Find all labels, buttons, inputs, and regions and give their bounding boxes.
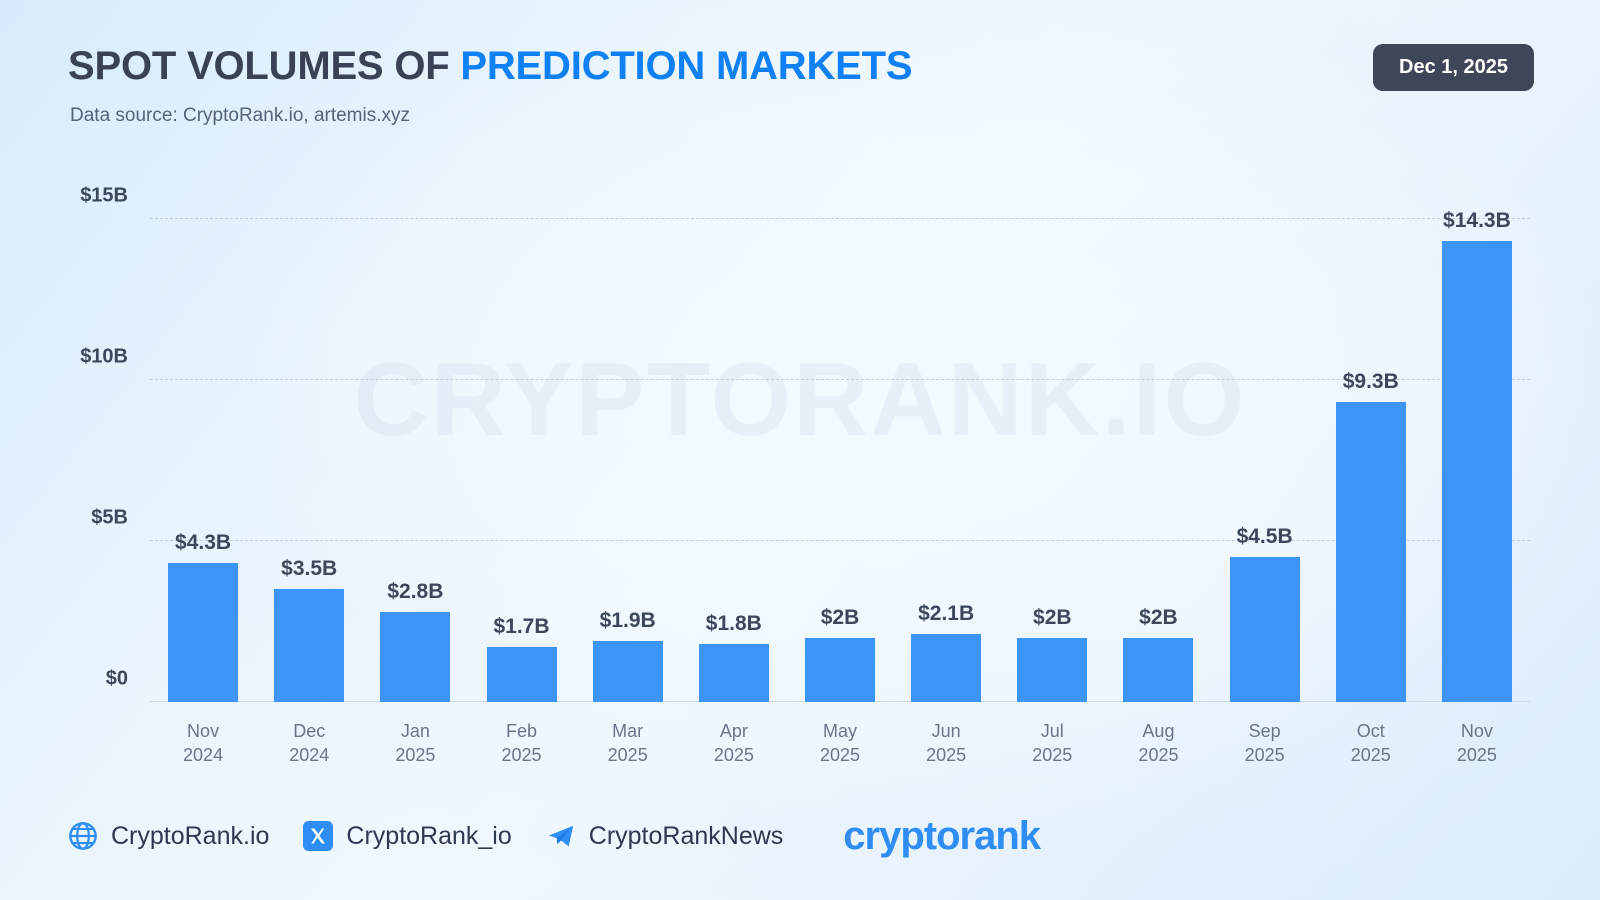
x-axis-tick-month: Nov bbox=[1461, 721, 1493, 741]
y-axis-tick-label: $0 bbox=[8, 668, 128, 691]
bar[interactable] bbox=[1123, 638, 1193, 702]
y-axis-tick-label: $15B bbox=[8, 184, 128, 207]
bar-value-label: $2B bbox=[1139, 606, 1178, 630]
x-axis-tick-year: 2025 bbox=[395, 744, 435, 768]
x-axis-tick-label: Dec2024 bbox=[289, 720, 329, 768]
bar-value-label: $4.5B bbox=[1237, 525, 1293, 549]
globe-icon bbox=[68, 821, 98, 851]
bar[interactable] bbox=[1017, 638, 1087, 702]
bar[interactable] bbox=[699, 644, 769, 702]
x-axis-tick-month: Apr bbox=[720, 721, 748, 741]
bar-slot: $2B bbox=[1105, 180, 1211, 702]
bar-value-label: $9.3B bbox=[1343, 370, 1399, 394]
x-axis-tick-month: Dec bbox=[293, 721, 325, 741]
x-axis-tick-year: 2025 bbox=[1245, 744, 1285, 768]
date-badge: Dec 1, 2025 bbox=[1373, 44, 1534, 91]
x-axis-tick-month: Oct bbox=[1357, 721, 1385, 741]
x-axis-tick-year: 2025 bbox=[1351, 744, 1391, 768]
x-axis-tick-year: 2025 bbox=[714, 744, 754, 768]
bar-value-label: $2.8B bbox=[387, 580, 443, 604]
social-link-telegram-label: CryptoRankNews bbox=[589, 822, 784, 851]
x-axis-tick-label: Aug2025 bbox=[1138, 720, 1178, 768]
social-link-website-label: CryptoRank.io bbox=[111, 822, 269, 851]
x-axis-tick-month: May bbox=[823, 721, 857, 741]
x-axis-tick-year: 2024 bbox=[289, 744, 329, 768]
social-link-website[interactable]: CryptoRank.io bbox=[68, 821, 269, 851]
x-axis-tick-year: 2025 bbox=[608, 744, 648, 768]
bar-value-label: $4.3B bbox=[175, 531, 231, 555]
bar-slot: $2.8B bbox=[362, 180, 468, 702]
x-axis-tick-month: Aug bbox=[1142, 721, 1174, 741]
bar[interactable] bbox=[380, 612, 450, 702]
bar-slot: $2B bbox=[787, 180, 893, 702]
bar[interactable] bbox=[593, 641, 663, 702]
x-axis-tick-label: May2025 bbox=[820, 720, 860, 768]
x-axis-tick-label: Oct2025 bbox=[1351, 720, 1391, 768]
cryptorank-logo: cryptorank bbox=[843, 816, 1040, 856]
x-axis-tick-label: Feb2025 bbox=[502, 720, 542, 768]
bar[interactable] bbox=[487, 647, 557, 702]
x-axis-tick-month: Jun bbox=[932, 721, 961, 741]
x-axis-tick-year: 2024 bbox=[183, 744, 223, 768]
bar[interactable] bbox=[1336, 402, 1406, 702]
bar-slot: $9.3B bbox=[1318, 180, 1424, 702]
x-axis-tick-label: Mar2025 bbox=[608, 720, 648, 768]
bar-slot: $14.3B bbox=[1424, 180, 1530, 702]
bar-value-label: $2B bbox=[1033, 606, 1072, 630]
x-axis-tick-month: Jan bbox=[401, 721, 430, 741]
bar-slot: $4.5B bbox=[1212, 180, 1318, 702]
x-axis-tick-label: Nov2024 bbox=[183, 720, 223, 768]
x-twitter-icon bbox=[303, 821, 333, 851]
x-axis-tick-year: 2025 bbox=[820, 744, 860, 768]
bar-slot: $2B bbox=[999, 180, 1105, 702]
bar[interactable] bbox=[1442, 241, 1512, 702]
x-axis-tick-month: Feb bbox=[506, 721, 537, 741]
bar-value-label: $2.1B bbox=[918, 602, 974, 626]
bar-slot: $1.7B bbox=[468, 180, 574, 702]
page-title-plain: SPOT VOLUMES OF bbox=[68, 44, 460, 88]
x-axis-tick-year: 2025 bbox=[1457, 744, 1497, 768]
bar[interactable] bbox=[805, 638, 875, 702]
bar-value-label: $3.5B bbox=[281, 557, 337, 581]
footer: CryptoRank.io CryptoRank_io CryptoRankNe… bbox=[68, 816, 1040, 856]
bar[interactable] bbox=[168, 563, 238, 702]
x-axis-tick-month: Sep bbox=[1249, 721, 1281, 741]
page-title-highlight: PREDICTION MARKETS bbox=[460, 44, 912, 88]
x-axis-tick-month: Nov bbox=[187, 721, 219, 741]
bar-slot: $1.8B bbox=[681, 180, 787, 702]
x-axis-tick-label: Jul2025 bbox=[1032, 720, 1072, 768]
x-axis-tick-year: 2025 bbox=[1032, 744, 1072, 768]
infographic-canvas: SPOT VOLUMES OF PREDICTION MARKETS Data … bbox=[0, 0, 1600, 900]
bar-slot: $2.1B bbox=[893, 180, 999, 702]
x-axis-tick-label: Jun2025 bbox=[926, 720, 966, 768]
x-axis-tick-year: 2025 bbox=[1138, 744, 1178, 768]
x-axis-tick-month: Jul bbox=[1041, 721, 1064, 741]
bar-slot: $1.9B bbox=[575, 180, 681, 702]
data-source-subtitle: Data source: CryptoRank.io, artemis.xyz bbox=[70, 105, 410, 127]
bar-chart-plot: $0$5B$10B$15B $4.3B$3.5B$2.8B$1.7B$1.9B$… bbox=[150, 180, 1530, 702]
bar-value-label: $1.7B bbox=[493, 615, 549, 639]
bar-slot: $3.5B bbox=[256, 180, 362, 702]
social-link-telegram[interactable]: CryptoRankNews bbox=[546, 821, 784, 851]
social-link-x-label: CryptoRank_io bbox=[346, 822, 511, 851]
bar[interactable] bbox=[911, 634, 981, 702]
bar[interactable] bbox=[1230, 557, 1300, 702]
bar-value-label: $14.3B bbox=[1443, 209, 1511, 233]
x-axis-tick-month: Mar bbox=[612, 721, 643, 741]
x-axis-tick-label: Jan2025 bbox=[395, 720, 435, 768]
page-title: SPOT VOLUMES OF PREDICTION MARKETS bbox=[68, 44, 912, 88]
telegram-icon bbox=[546, 821, 576, 851]
bar-value-label: $2B bbox=[821, 606, 860, 630]
y-axis-tick-label: $5B bbox=[8, 506, 128, 529]
x-axis-tick-year: 2025 bbox=[926, 744, 966, 768]
x-axis-tick-label: Sep2025 bbox=[1245, 720, 1285, 768]
x-axis-tick-label: Apr2025 bbox=[714, 720, 754, 768]
x-axis-tick-year: 2025 bbox=[502, 744, 542, 768]
bar-slot: $4.3B bbox=[150, 180, 256, 702]
social-link-x[interactable]: CryptoRank_io bbox=[303, 821, 511, 851]
bar[interactable] bbox=[274, 589, 344, 702]
bar-value-label: $1.9B bbox=[600, 609, 656, 633]
bar-value-label: $1.8B bbox=[706, 612, 762, 636]
y-axis-tick-label: $10B bbox=[8, 345, 128, 368]
x-axis-tick-label: Nov2025 bbox=[1457, 720, 1497, 768]
